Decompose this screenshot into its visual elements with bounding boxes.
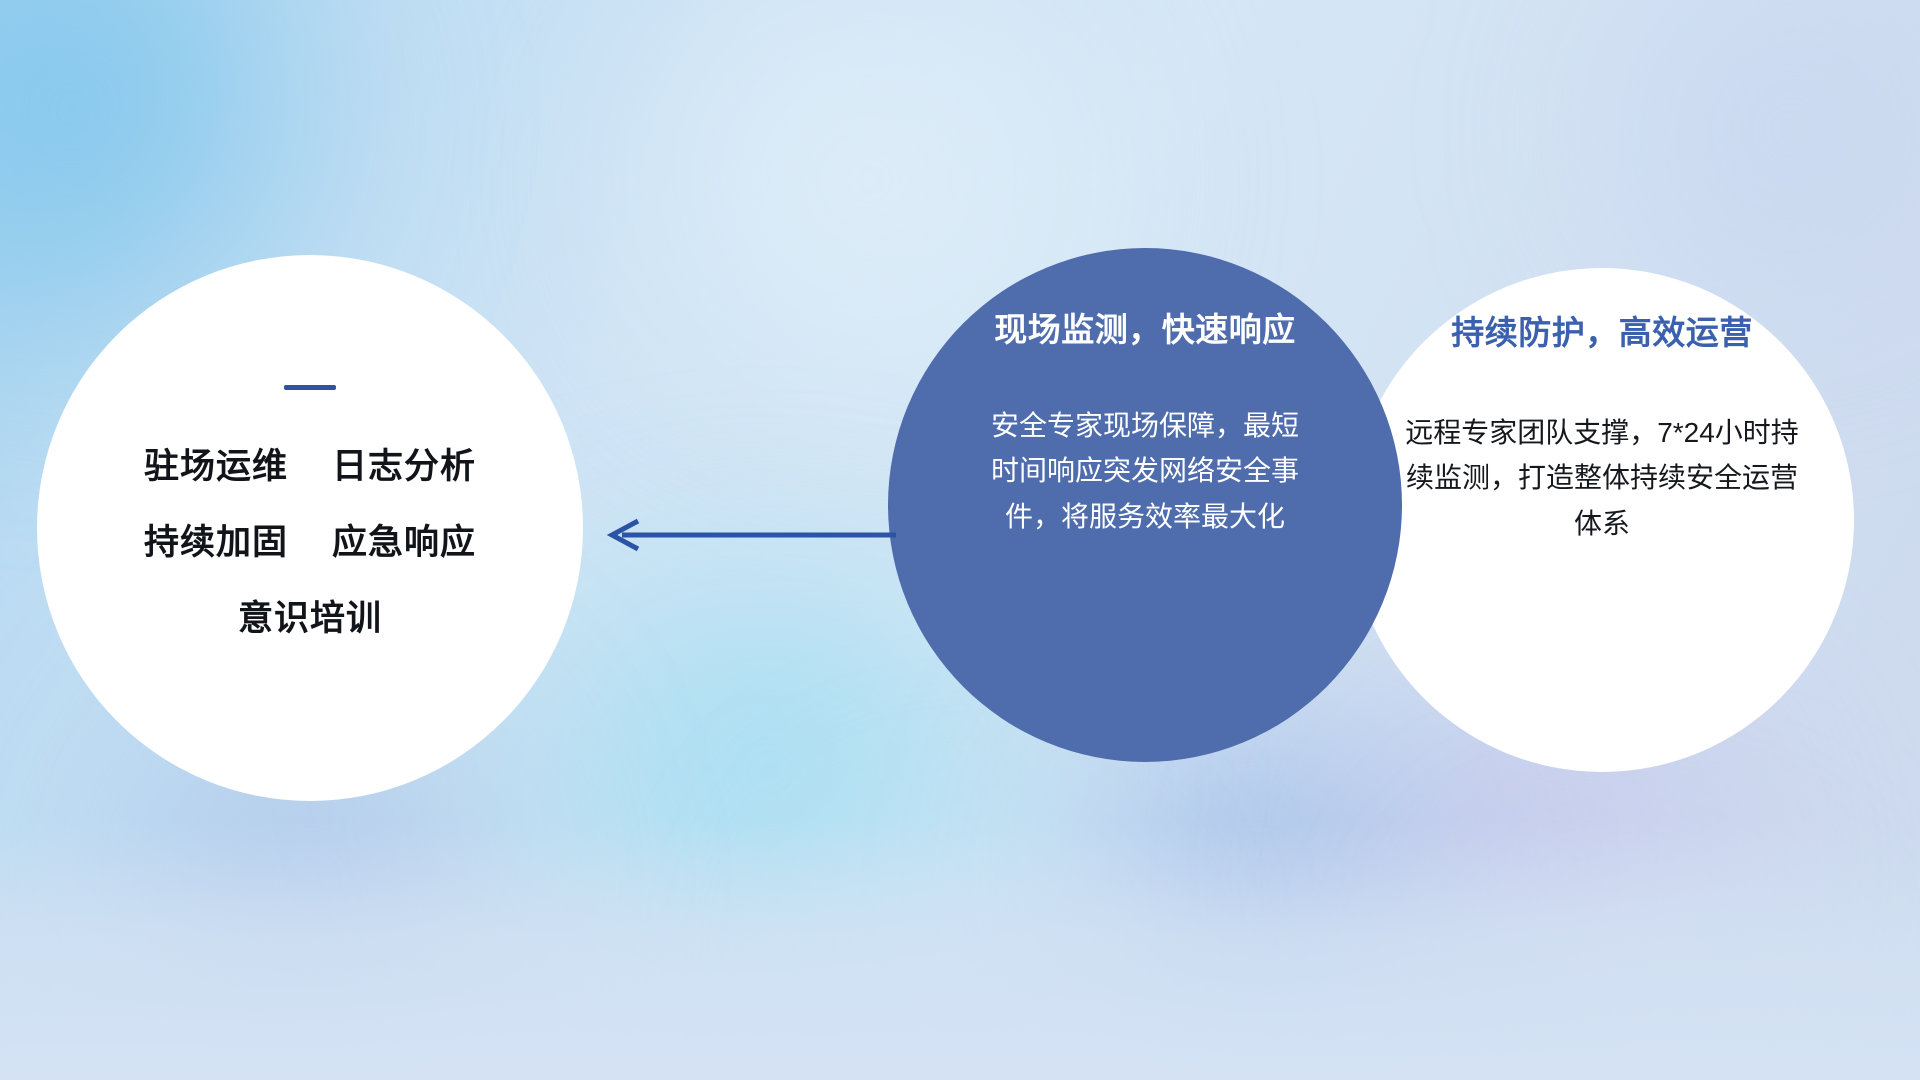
capability-item-continuous-hardening: 持续加固: [144, 514, 288, 565]
capability-item-log-analysis: 日志分析: [332, 438, 476, 489]
capability-list: 驻场运维 日志分析 持续加固 应急响应 意识培训: [144, 438, 476, 641]
flow-arrow: [600, 515, 900, 560]
capability-item-awareness-training: 意识培训: [238, 590, 382, 641]
service-circle-middle: 现场监测，快速响应 安全专家现场保障，最短时间响应突发网络安全事件，将服务效率最…: [888, 248, 1402, 762]
service-circle-right-title: 持续防护，高效运营: [1451, 306, 1753, 354]
divider-dash-icon: [284, 385, 336, 390]
service-circle-middle-title: 现场监测，快速响应: [994, 303, 1296, 351]
capability-row-2: 持续加固 应急响应: [144, 514, 476, 565]
capability-row-3: 意识培训: [238, 590, 382, 641]
flow-arrow-icon: [600, 515, 900, 555]
diagram-stage: 驻场运维 日志分析 持续加固 应急响应 意识培训 持续防护，高效运营 远程专家团…: [0, 0, 1920, 1080]
service-circle-right: 持续防护，高效运营 远程专家团队支撑，7*24小时持续监测，打造整体持续安全运营…: [1350, 268, 1854, 772]
service-circle-middle-body: 安全专家现场保障，最短时间响应突发网络安全事件，将服务效率最大化: [980, 403, 1310, 539]
capability-circle-left: 驻场运维 日志分析 持续加固 应急响应 意识培训: [37, 255, 583, 801]
service-circle-right-body: 远程专家团队支撑，7*24小时持续监测，打造整体持续安全运营体系: [1403, 410, 1801, 546]
capability-item-emergency-response: 应急响应: [332, 514, 476, 565]
capability-row-1: 驻场运维 日志分析: [144, 438, 476, 489]
capability-item-onsite-ops: 驻场运维: [144, 438, 288, 489]
